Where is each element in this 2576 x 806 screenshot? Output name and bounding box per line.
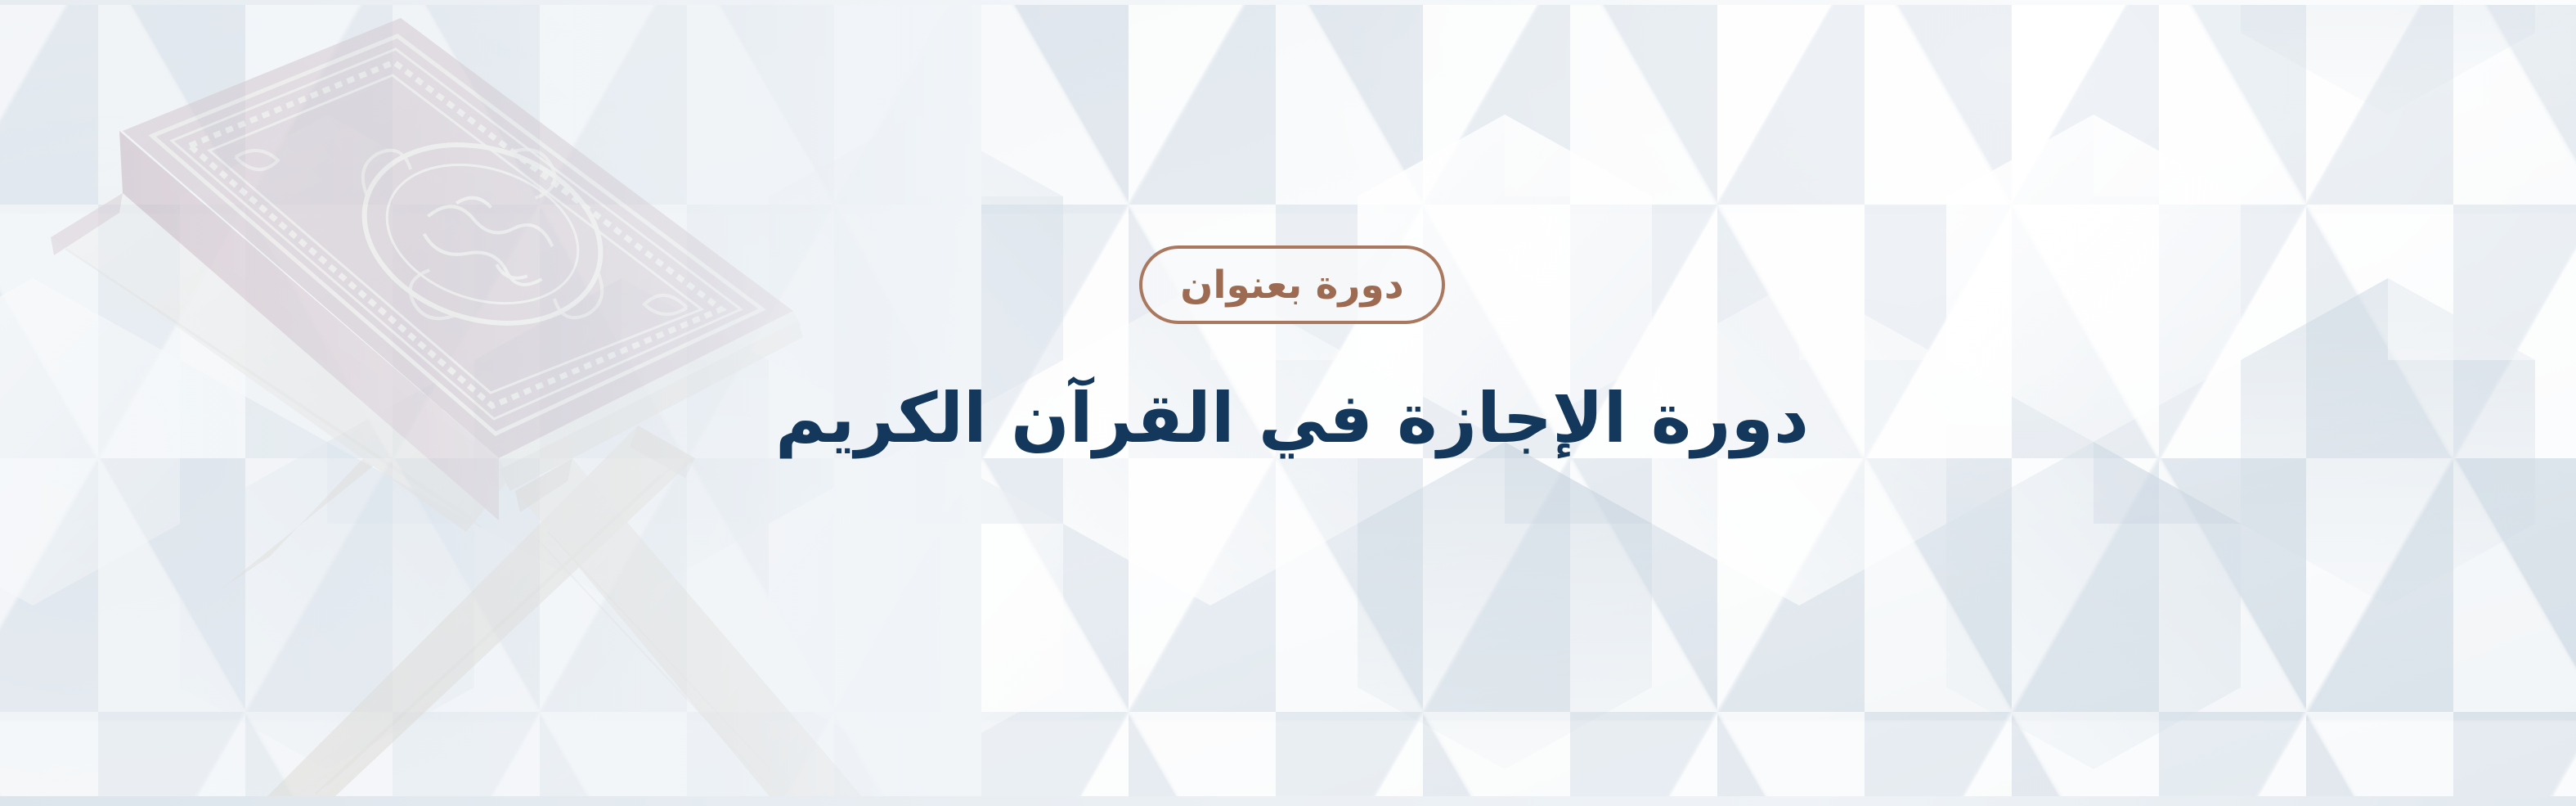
banner-content: دورة بعنوان دورة الإجازة في القرآن الكري… — [0, 0, 2576, 806]
bottom-edge-highlight — [0, 796, 2576, 806]
course-label-badge: دورة بعنوان — [1139, 245, 1445, 324]
course-banner: دورة بعنوان دورة الإجازة في القرآن الكري… — [0, 0, 2576, 806]
banner-title: دورة الإجازة في القرآن الكريم — [775, 378, 1809, 459]
top-edge-highlight — [0, 0, 2576, 5]
